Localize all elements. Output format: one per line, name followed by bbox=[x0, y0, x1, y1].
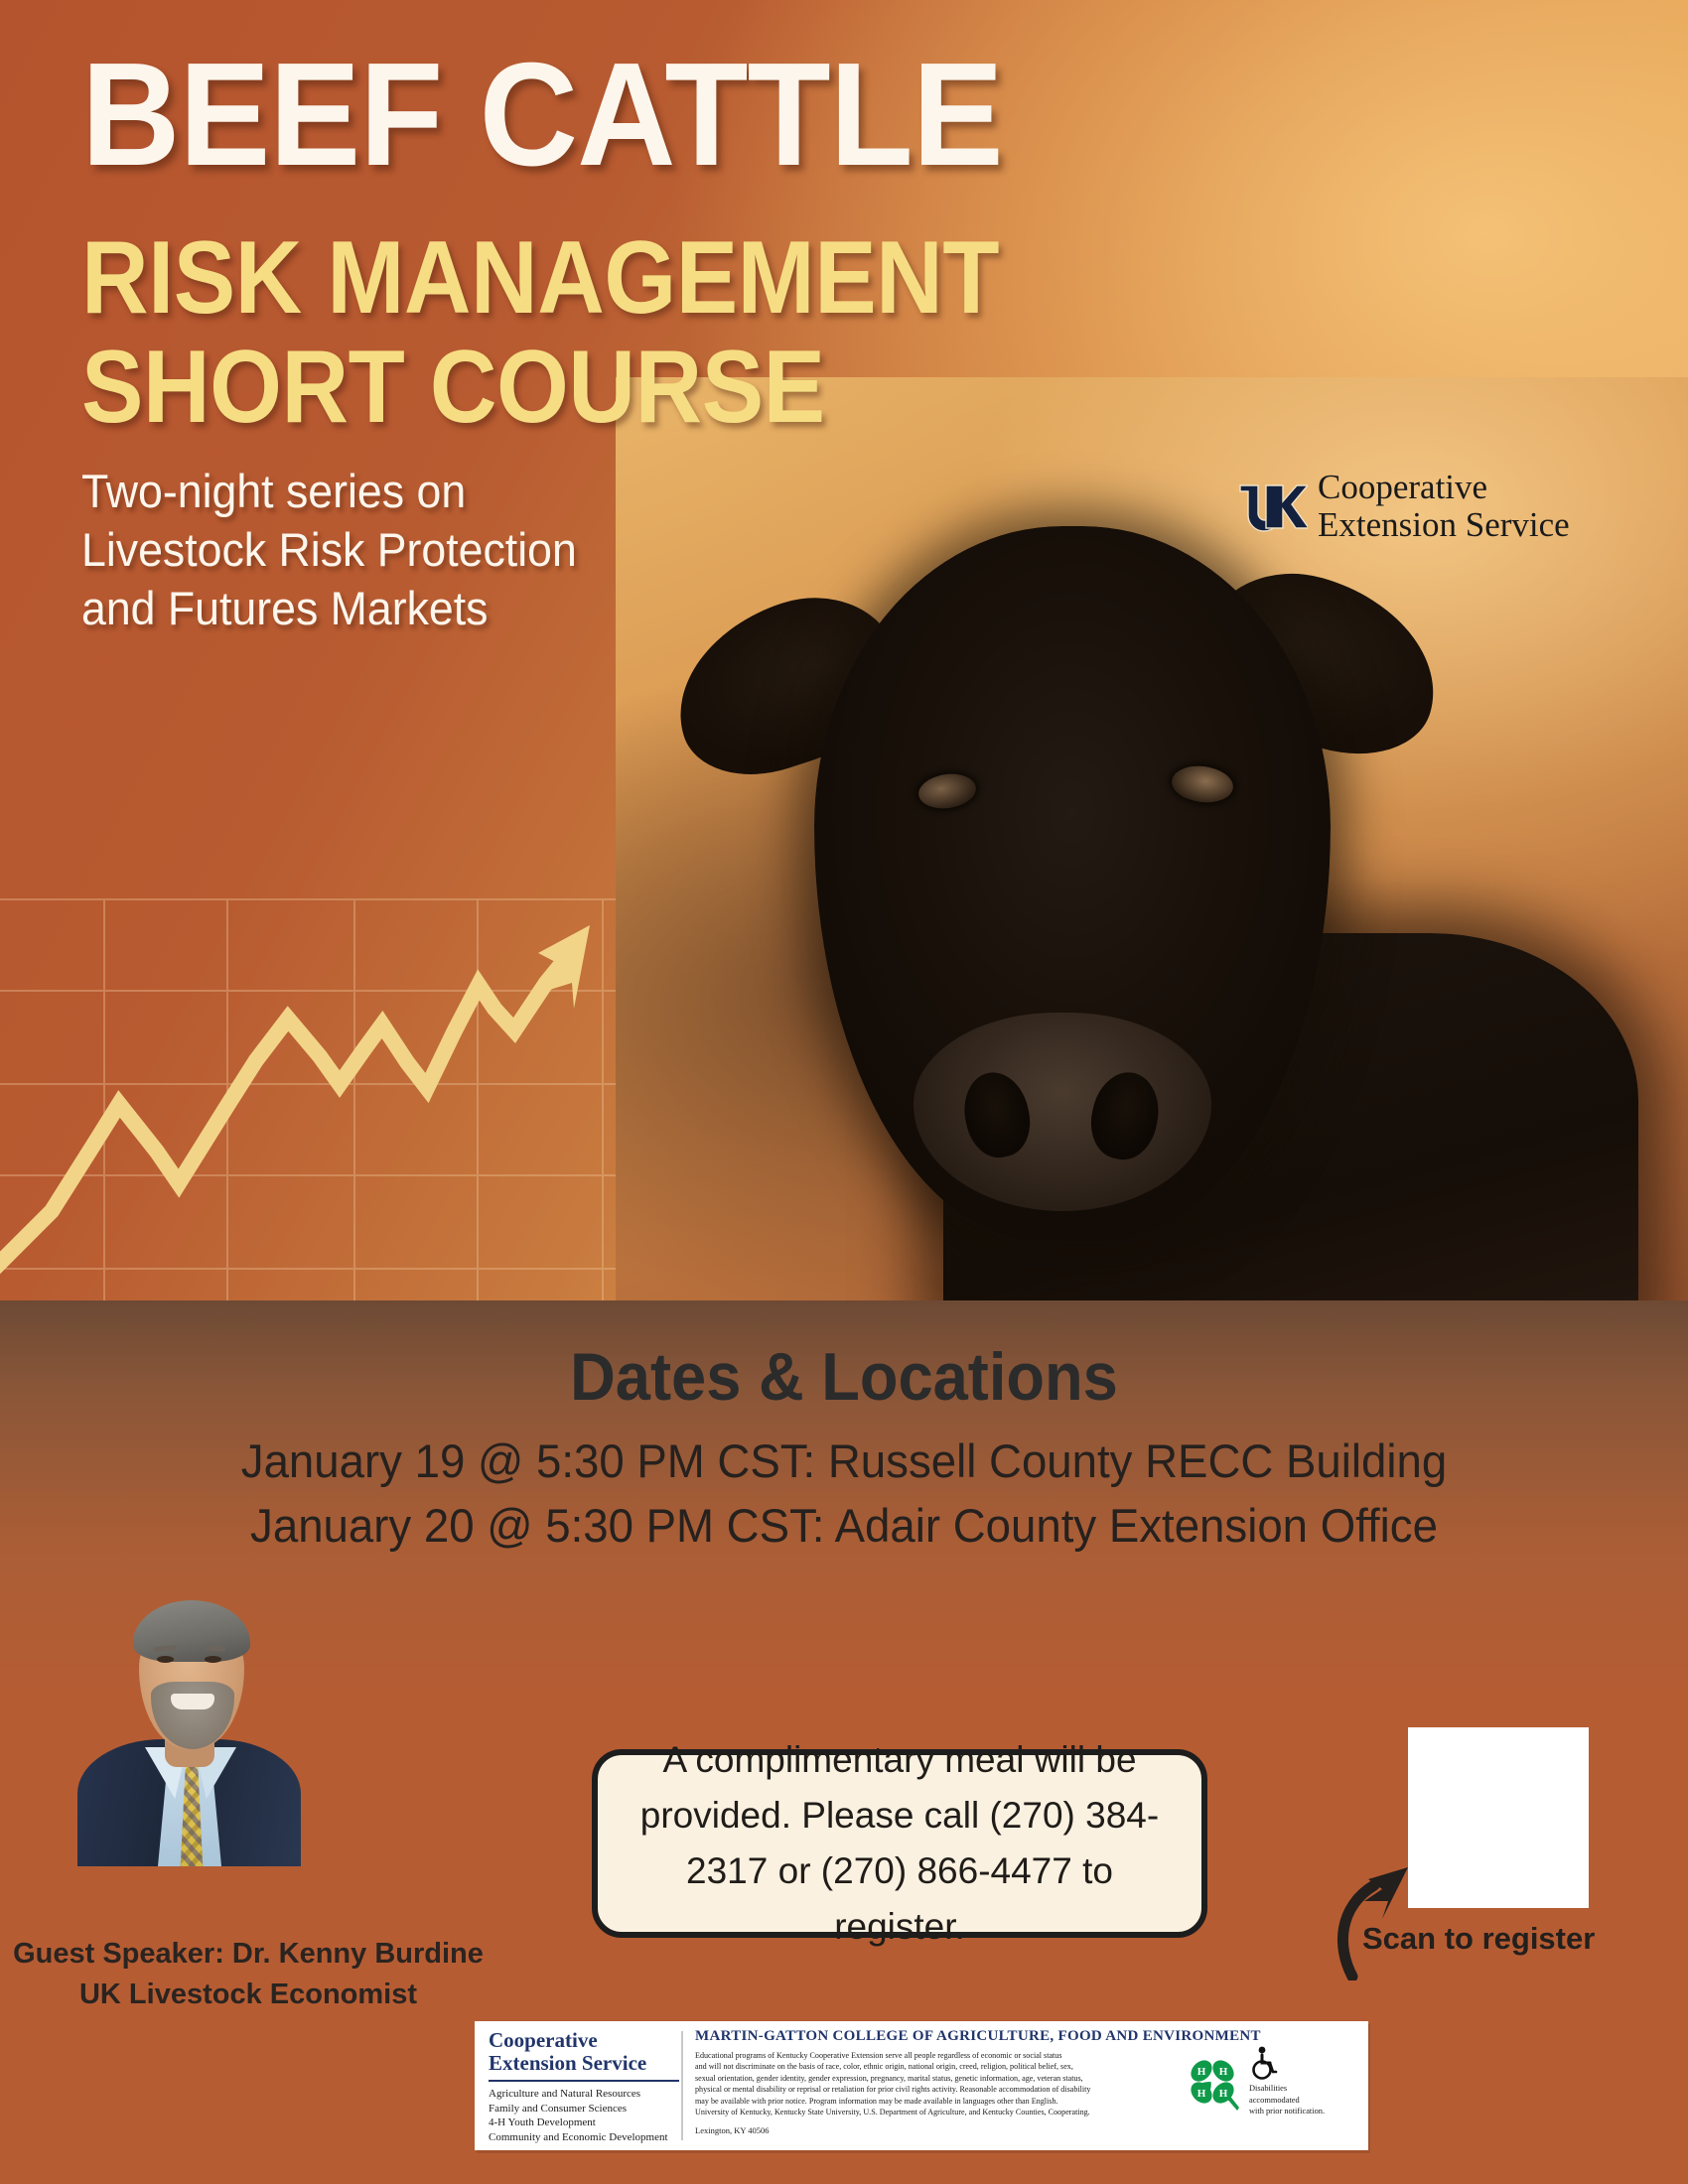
uk-logo-line1: Cooperative bbox=[1318, 469, 1570, 506]
accessibility-notice: Disabilities accommodated with prior not… bbox=[1249, 2046, 1325, 2117]
dates-locations-heading: Dates & Locations bbox=[60, 1338, 1629, 1416]
hero-description-line: Two-night series on bbox=[81, 462, 577, 520]
footer-address: Lexington, KY 40506 bbox=[695, 2125, 1172, 2135]
uk-monogram-icon bbox=[1236, 479, 1308, 533]
speaker-title: UK Livestock Economist bbox=[0, 1975, 496, 2015]
footer-college-name: MARTIN-GATTON COLLEGE OF AGRICULTURE, FO… bbox=[695, 2028, 1172, 2045]
speaker-headshot bbox=[77, 1578, 301, 1866]
dates-locations-list: January 19 @ 5:30 PM CST: Russell County… bbox=[0, 1430, 1688, 1559]
footer-unit: Community and Economic Development bbox=[489, 2130, 671, 2145]
uk-logo-line2: Extension Service bbox=[1318, 506, 1570, 544]
scan-to-register-label: Scan to register bbox=[1362, 1921, 1640, 1957]
footer-nondiscrimination-text: Educational programs of Kentucky Coopera… bbox=[695, 2050, 1172, 2118]
hero-description-line: Livestock Risk Protection bbox=[81, 520, 577, 579]
wheelchair-accessibility-icon bbox=[1249, 2046, 1279, 2080]
speaker-caption: Guest Speaker: Dr. Kenny Burdine UK Live… bbox=[0, 1934, 496, 2015]
footer-icons-block: HH HH Disabilities accommodated with pri… bbox=[1180, 2021, 1368, 2150]
page-subtitle-line2: SHORT COURSE bbox=[81, 336, 825, 439]
accessibility-text: Disabilities accommodated with prior not… bbox=[1249, 2083, 1325, 2117]
footer-divider-rule bbox=[489, 2080, 679, 2082]
hero-description: Two-night series onLivestock Risk Protec… bbox=[81, 462, 577, 638]
footer-college-block: MARTIN-GATTON COLLEGE OF AGRICULTURE, FO… bbox=[683, 2021, 1180, 2150]
curved-arrow-up-right-icon bbox=[1331, 1851, 1440, 1980]
footer-ces-title: Cooperative Extension Service bbox=[489, 2029, 671, 2075]
upward-trend-arrow-icon bbox=[0, 655, 626, 1300]
page-title: BEEF CATTLE bbox=[81, 42, 1003, 189]
page-subtitle-line1: RISK MANAGEMENT bbox=[81, 226, 999, 330]
svg-text:H: H bbox=[1197, 2066, 1206, 2078]
footer-unit: Family and Consumer Sciences bbox=[489, 2102, 671, 2116]
footer-extension-block: Cooperative Extension Service Agricultur… bbox=[475, 2021, 681, 2150]
footer-disclaimer-strip: Cooperative Extension Service Agricultur… bbox=[475, 2021, 1368, 2150]
svg-text:H: H bbox=[1197, 2088, 1206, 2100]
hero-description-line: and Futures Markets bbox=[81, 579, 577, 637]
registration-callout-box: A complimentary meal will be provided. P… bbox=[592, 1749, 1207, 1938]
footer-unit: 4-H Youth Development bbox=[489, 2116, 671, 2130]
speaker-name: Guest Speaker: Dr. Kenny Burdine bbox=[0, 1934, 496, 1975]
event-line: January 19 @ 5:30 PM CST: Russell County… bbox=[26, 1430, 1663, 1494]
footer-unit: Agriculture and Natural Resources bbox=[489, 2087, 671, 2102]
hero-banner: BEEF CATTLE RISK MANAGEMENT SHORT COURSE… bbox=[0, 0, 1688, 1300]
4h-clover-icon: HH HH bbox=[1182, 2051, 1243, 2113]
event-line: January 20 @ 5:30 PM CST: Adair County E… bbox=[26, 1494, 1663, 1559]
svg-text:H: H bbox=[1219, 2066, 1228, 2078]
registration-callout-text: A complimentary meal will be provided. P… bbox=[624, 1732, 1176, 1956]
svg-text:H: H bbox=[1219, 2088, 1228, 2100]
uk-logo-wordmark: Cooperative Extension Service bbox=[1318, 469, 1570, 544]
uk-cooperative-extension-logo: Cooperative Extension Service bbox=[1236, 469, 1570, 544]
